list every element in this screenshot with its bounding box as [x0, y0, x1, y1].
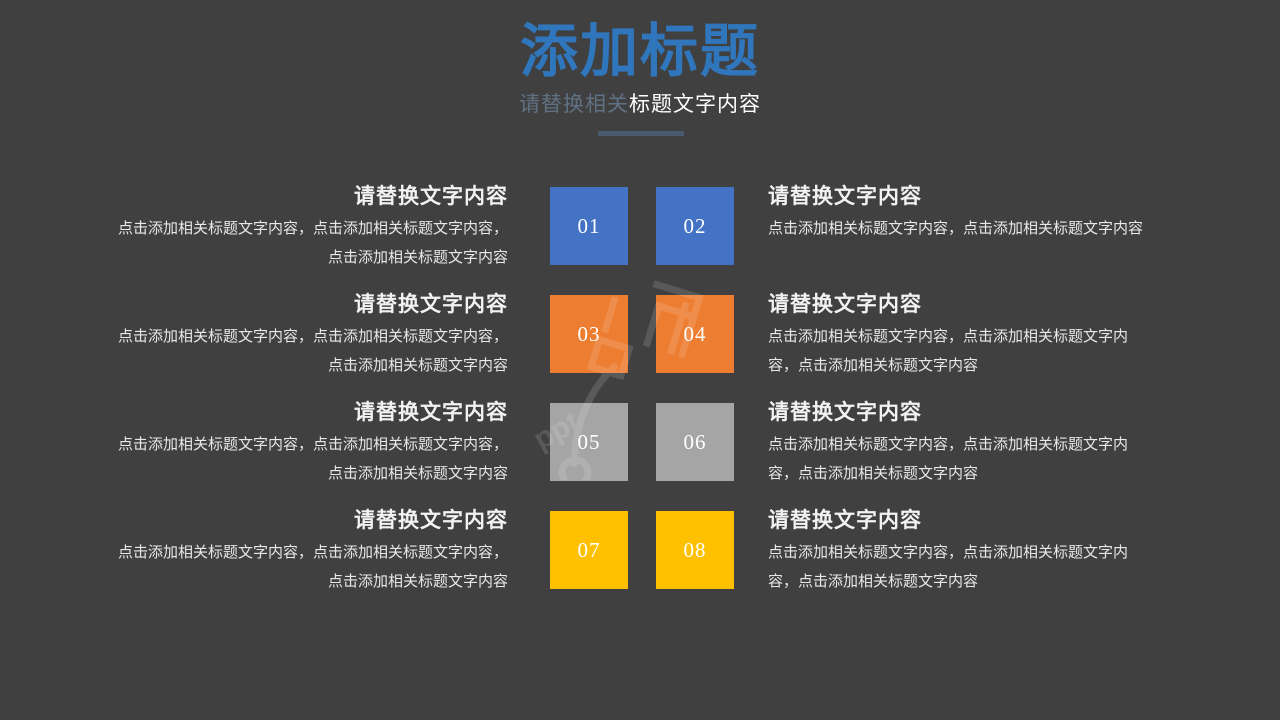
block-body: 点击添加相关标题文字内容，点击添加相关标题文字内容，点击添加相关标题文字内容: [768, 317, 1138, 381]
text-block-right: 请替换文字内容 点击添加相关标题文字内容，点击添加相关标题文字内容: [768, 183, 1168, 244]
number-square-06[interactable]: 06: [656, 403, 734, 481]
block-heading: 请替换文字内容: [768, 291, 1138, 317]
subtitle-dim-part: 请替换相关: [519, 92, 629, 116]
page-title: 添加标题: [0, 0, 1280, 84]
block-heading: 请替换文字内容: [108, 291, 508, 317]
text-block-left: 请替换文字内容 点击添加相关标题文字内容，点击添加相关标题文字内容，点击添加相关…: [108, 291, 508, 381]
block-body: 点击添加相关标题文字内容，点击添加相关标题文字内容，点击添加相关标题文字内容: [108, 533, 508, 597]
content-rows: 请替换文字内容 点击添加相关标题文字内容，点击添加相关标题文字内容，点击添加相关…: [0, 173, 1280, 605]
block-heading: 请替换文字内容: [108, 183, 508, 209]
content-row: 请替换文字内容 点击添加相关标题文字内容，点击添加相关标题文字内容，点击添加相关…: [0, 173, 1280, 281]
number-square-04[interactable]: 04: [656, 295, 734, 373]
number-square-01[interactable]: 01: [550, 187, 628, 265]
text-block-left: 请替换文字内容 点击添加相关标题文字内容，点击添加相关标题文字内容，点击添加相关…: [108, 507, 508, 597]
content-row: 请替换文字内容 点击添加相关标题文字内容，点击添加相关标题文字内容，点击添加相关…: [0, 497, 1280, 605]
block-heading: 请替换文字内容: [768, 183, 1168, 209]
content-row: 请替换文字内容 点击添加相关标题文字内容，点击添加相关标题文字内容，点击添加相关…: [0, 281, 1280, 389]
number-square-03[interactable]: 03: [550, 295, 628, 373]
number-square-08[interactable]: 08: [656, 511, 734, 589]
block-heading: 请替换文字内容: [768, 507, 1138, 533]
text-block-right: 请替换文字内容 点击添加相关标题文字内容，点击添加相关标题文字内容，点击添加相关…: [768, 507, 1138, 597]
number-square-07[interactable]: 07: [550, 511, 628, 589]
text-block-left: 请替换文字内容 点击添加相关标题文字内容，点击添加相关标题文字内容，点击添加相关…: [108, 183, 508, 273]
number-square-02[interactable]: 02: [656, 187, 734, 265]
slide-canvas: 添加标题 请替换相关标题文字内容 请替换文字内容 点击添加相关标题文字内容，点击…: [0, 0, 1280, 720]
block-heading: 请替换文字内容: [108, 399, 508, 425]
title-divider: [598, 131, 684, 136]
content-row: 请替换文字内容 点击添加相关标题文字内容，点击添加相关标题文字内容，点击添加相关…: [0, 389, 1280, 497]
block-body: 点击添加相关标题文字内容，点击添加相关标题文字内容，点击添加相关标题文字内容: [108, 425, 508, 489]
block-body: 点击添加相关标题文字内容，点击添加相关标题文字内容，点击添加相关标题文字内容: [768, 533, 1138, 597]
slide-header: 添加标题 请替换相关标题文字内容: [0, 0, 1280, 118]
block-body: 点击添加相关标题文字内容，点击添加相关标题文字内容，点击添加相关标题文字内容: [108, 209, 508, 273]
subtitle-bright-part: 标题文字内容: [629, 92, 761, 116]
block-body: 点击添加相关标题文字内容，点击添加相关标题文字内容，点击添加相关标题文字内容: [108, 317, 508, 381]
block-heading: 请替换文字内容: [108, 507, 508, 533]
block-body: 点击添加相关标题文字内容，点击添加相关标题文字内容，点击添加相关标题文字内容: [768, 425, 1138, 489]
number-square-05[interactable]: 05: [550, 403, 628, 481]
text-block-right: 请替换文字内容 点击添加相关标题文字内容，点击添加相关标题文字内容，点击添加相关…: [768, 291, 1138, 381]
page-subtitle: 请替换相关标题文字内容: [0, 84, 1280, 118]
block-body: 点击添加相关标题文字内容，点击添加相关标题文字内容: [768, 209, 1168, 244]
block-heading: 请替换文字内容: [768, 399, 1138, 425]
text-block-right: 请替换文字内容 点击添加相关标题文字内容，点击添加相关标题文字内容，点击添加相关…: [768, 399, 1138, 489]
text-block-left: 请替换文字内容 点击添加相关标题文字内容，点击添加相关标题文字内容，点击添加相关…: [108, 399, 508, 489]
